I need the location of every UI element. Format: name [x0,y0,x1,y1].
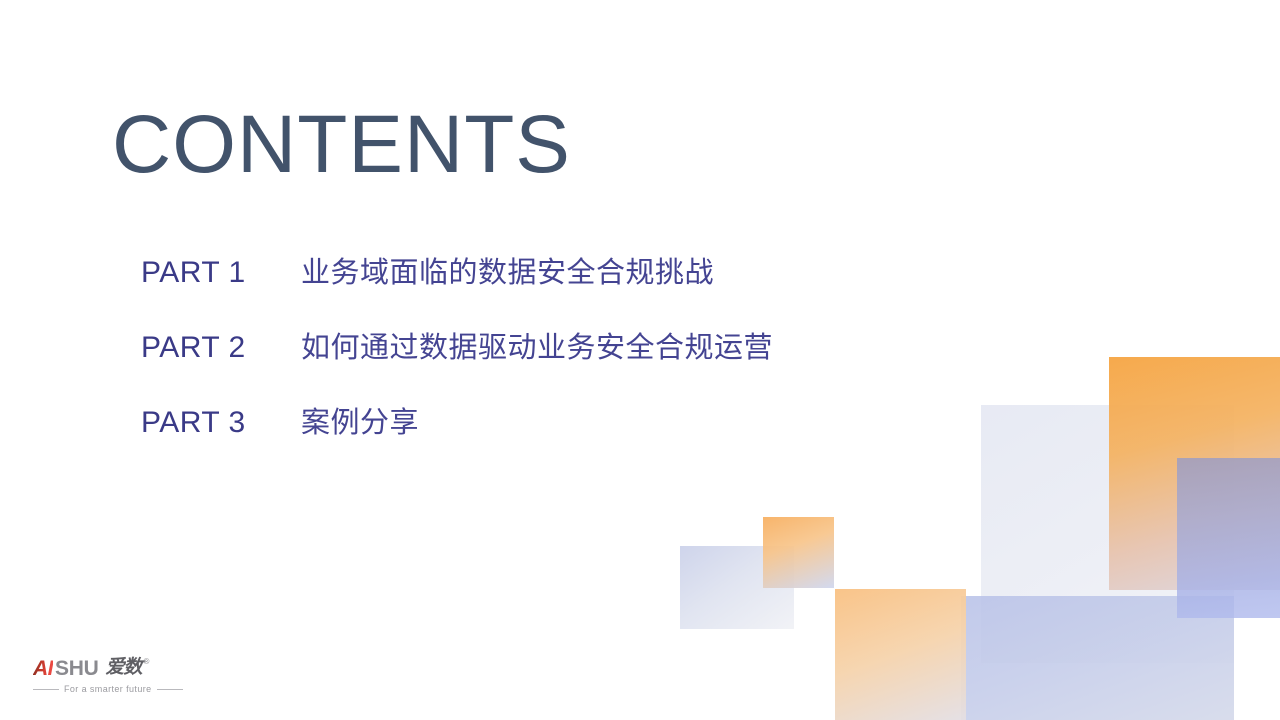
list-item[interactable]: PART 1 业务域面临的数据安全合规挑战 [141,249,901,291]
part-label-3: PART 3 [141,406,301,440]
tagline-text: For a smarter future [64,684,152,694]
logo-shu-text: SHU [55,658,98,679]
part-label-2: PART 2 [141,331,301,365]
contents-list: PART 1 业务域面临的数据安全合规挑战 PART 2 如何通过数据驱动业务安… [141,249,901,441]
part-label-1: PART 1 [141,256,301,290]
decor-bluegrey-small-rect [680,546,794,629]
logo-ai-text: AI [33,658,53,679]
part-text-3: 案例分享 [301,399,419,441]
decor-orange-right-rect [1109,357,1280,590]
aishu-logo: AI SHU 爱数 ® For a smarter future [33,658,183,694]
decor-orange-large-square [835,589,966,720]
logo-chinese-text: 爱数 [105,658,141,677]
page-title: CONTENTS [112,104,571,186]
decor-orange-small-square [763,517,834,588]
list-item[interactable]: PART 2 如何通过数据驱动业务安全合规运营 [141,324,901,366]
tagline-rule-left-icon [33,689,59,690]
decor-periwinkle-rect [961,596,1234,720]
logo-tagline: For a smarter future [33,684,183,694]
decor-grey-tall-rect [981,405,1234,663]
list-item[interactable]: PART 3 案例分享 [141,399,901,441]
tagline-rule-right-icon [157,689,183,690]
contents-slide: CONTENTS PART 1 业务域面临的数据安全合规挑战 PART 2 如何… [0,0,1280,720]
part-text-1: 业务域面临的数据安全合规挑战 [301,249,714,291]
decor-purple-square [1177,458,1280,618]
registered-mark-icon: ® [143,658,149,666]
logo-wordmark: AI SHU 爱数 ® [33,658,183,680]
part-text-2: 如何通过数据驱动业务安全合规运营 [301,324,773,366]
